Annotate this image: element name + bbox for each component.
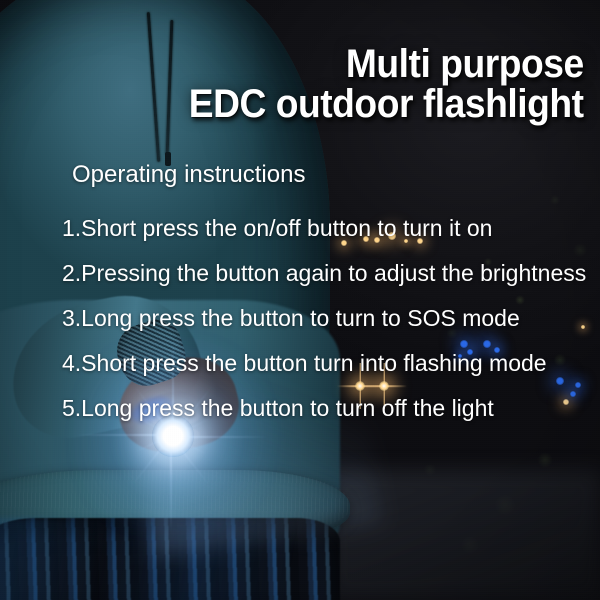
instruction-step-5: 5.Long press the button to turn off the … — [62, 386, 592, 431]
instruction-step-2: 2.Pressing the button again to adjust th… — [62, 251, 592, 296]
instruction-step-1: 1.Short press the on/off button to turn … — [62, 206, 592, 251]
product-instruction-banner: Multi purpose EDC outdoor flashlight Ope… — [0, 0, 600, 600]
instruction-step-list: 1.Short press the on/off button to turn … — [62, 206, 592, 431]
title-line-2: EDC outdoor flashlight — [189, 82, 584, 126]
instruction-step-3: 3.Long press the button to turn to SOS m… — [62, 296, 592, 341]
title-line-1: Multi purpose — [346, 42, 584, 86]
instructions-heading: Operating instructions — [72, 160, 305, 190]
instruction-step-4: 4.Short press the button turn into flash… — [62, 341, 592, 386]
